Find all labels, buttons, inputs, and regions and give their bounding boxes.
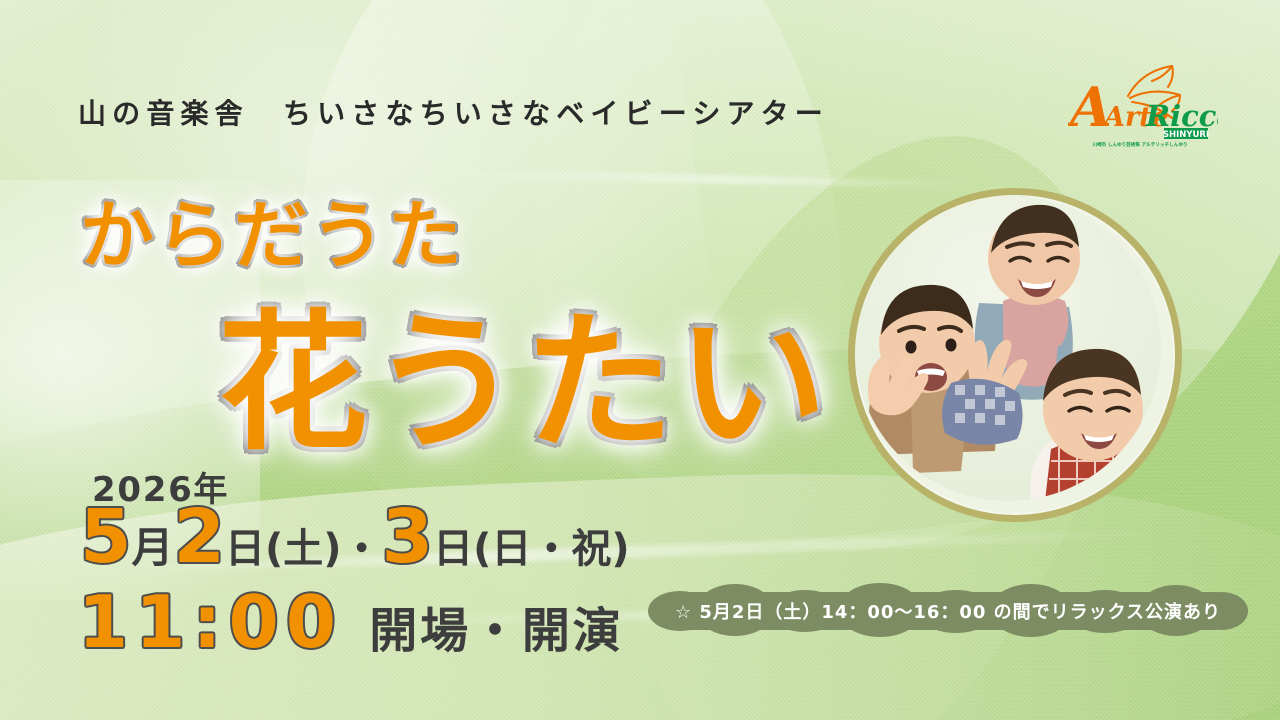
background-brush-streak (420, 169, 980, 189)
baby-photo-illustration (855, 195, 1161, 501)
event-time-line: 11 : 00 開場・開演 (78, 586, 624, 658)
event-time-minute: 00 (229, 586, 344, 658)
baby-photo-image (855, 195, 1175, 515)
event-day1-number: 2 (174, 500, 226, 574)
relax-performance-note-text: ☆ 5月2日（土）14：00〜16：00 の間でリラックス公演あり (648, 588, 1248, 634)
logo-word-ricca: Ricca (1145, 99, 1218, 133)
event-time-hour: 11 (78, 586, 193, 658)
event-day2-kanji: 日 (433, 529, 473, 569)
logo-sub-label: SHINYURI (1163, 130, 1209, 140)
event-date-separator: ・ (342, 529, 382, 569)
title-main-hanautai: 花うたい (218, 262, 830, 479)
event-day2-number: 3 (382, 500, 434, 574)
event-day1-weekday: (土) (265, 529, 342, 569)
cushion-checkered (942, 379, 1022, 445)
event-time-colon: : (193, 586, 229, 658)
event-day1-kanji: 日 (225, 529, 265, 569)
poster-canvas: 山の音楽舎 ちいさなちいさなベイビーシアター A Arte Ricca SHIN… (0, 0, 1280, 720)
event-month-number: 5 (80, 500, 132, 574)
baby-photo-circle (848, 188, 1182, 522)
event-date-line: 5 月 2 日 (土) ・ 3 日 (日・祝) (80, 500, 630, 574)
event-month-kanji: 月 (132, 527, 174, 569)
logo-tagline: 川崎市 しんゆり芸術祭 アルテリッチしんゆり (1091, 141, 1187, 148)
arte-ricca-logo: A Arte Ricca SHINYURI 川崎市 しんゆり芸術祭 アルテリッチ… (1068, 62, 1218, 148)
event-time-label: 開場・開演 (369, 607, 623, 655)
header-subtitle: 山の音楽舎 ちいさなちいさなベイビーシアター (78, 92, 829, 132)
relax-performance-note-banner: ☆ 5月2日（土）14：00〜16：00 の間でリラックス公演あり (648, 588, 1248, 634)
logo-artwork: A Arte Ricca SHINYURI 川崎市 しんゆり芸術祭 アルテリッチ… (1068, 62, 1218, 148)
event-day2-weekday: (日・祝) (473, 529, 630, 569)
